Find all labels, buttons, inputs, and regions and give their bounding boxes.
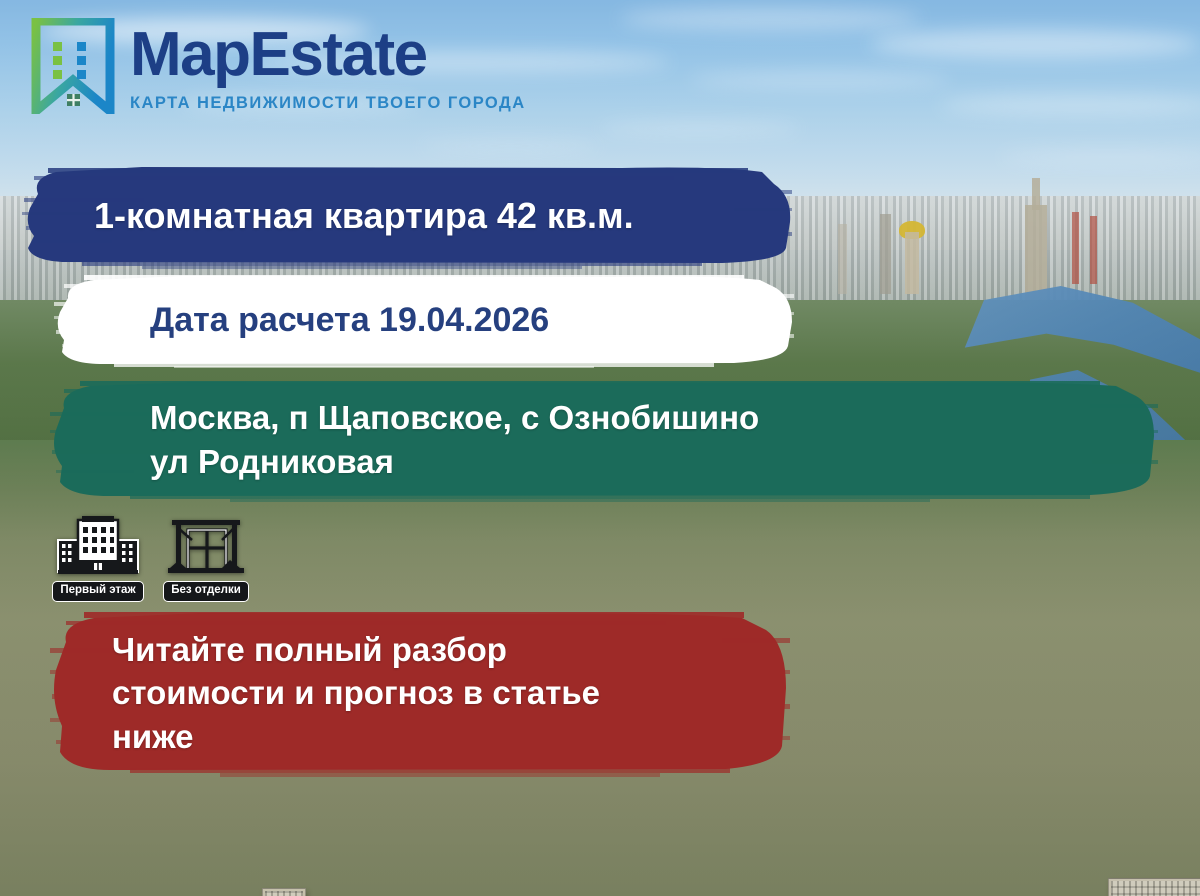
logo[interactable]: MapEstate КАРТА НЕДВИЖИМОСТИ ТВОЕГО ГОРО… [30, 18, 526, 114]
banner-cta-line2: стоимости и прогноз в статье [112, 671, 790, 715]
apartment-block [262, 888, 306, 896]
badge-group: Первый этаж Без отделки [48, 516, 256, 602]
cloud [690, 72, 950, 88]
apartment-tower [1108, 878, 1200, 896]
window-frame-icon [164, 516, 248, 578]
highrise [838, 224, 847, 294]
banner-cta-line1: Читайте полный разбор [112, 628, 790, 672]
banner-date: Дата расчета 19.04.2026 [54, 272, 794, 368]
cloud [600, 122, 800, 135]
badge-no-finishing[interactable]: Без отделки [156, 516, 256, 602]
banner-address-text: Москва, п Щаповское, с Ознобишино ул Род… [50, 396, 1158, 483]
banner-title-text: 1-комнатная квартира 42 кв.м. [22, 192, 792, 240]
banner-address-line2: ул Родниковая [150, 440, 1158, 484]
banner-cta-line3: ниже [112, 715, 790, 759]
banner-title: 1-комнатная квартира 42 кв.м. [22, 162, 792, 270]
banner-date-text: Дата расчета 19.04.2026 [54, 298, 794, 343]
landmark-tower [1025, 205, 1047, 301]
badge-first-floor[interactable]: Первый этаж [48, 516, 148, 602]
banner-address-line1: Москва, п Щаповское, с Ознобишино [150, 396, 1158, 440]
highrise [880, 214, 891, 294]
chimney [1072, 212, 1079, 284]
logo-title: MapEstate [130, 24, 526, 86]
landmark-tower [905, 232, 919, 294]
badge-label: Первый этаж [52, 581, 143, 602]
logo-subtitle: КАРТА НЕДВИЖИМОСТИ ТВОЕГО ГОРОДА [130, 94, 526, 113]
cloud [420, 140, 600, 152]
cloud [870, 30, 1200, 58]
bookmark-building-icon [30, 18, 116, 114]
banner-address: Москва, п Щаповское, с Ознобишино ул Род… [50, 378, 1158, 502]
banner-cta: Читайте полный разбор стоимости и прогно… [50, 608, 790, 778]
chimney [1090, 216, 1097, 284]
badge-label: Без отделки [163, 581, 249, 602]
cloud [620, 8, 920, 30]
banner-cta-text: Читайте полный разбор стоимости и прогно… [50, 628, 790, 759]
building-icon [56, 516, 140, 578]
